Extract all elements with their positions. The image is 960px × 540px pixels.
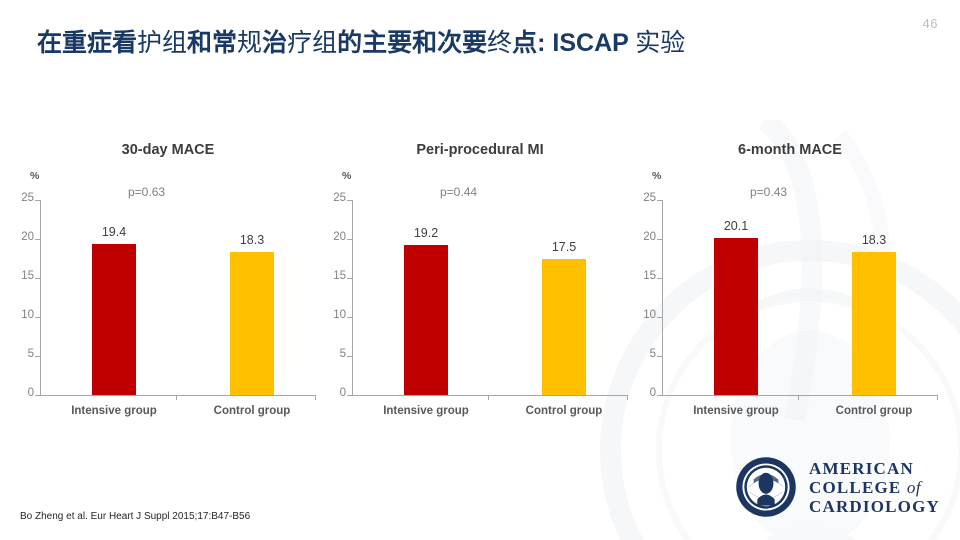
y-tick — [347, 395, 352, 396]
bar-intensive — [714, 238, 758, 395]
y-tick-label: 15 — [643, 270, 656, 282]
x-axis-midtick — [798, 395, 799, 400]
acc-logo-line-1: AMERICAN — [809, 459, 940, 478]
x-axis-midtick — [176, 395, 177, 400]
title-segment: 的主要和次要 — [337, 29, 487, 57]
y-tick-label: 0 — [650, 387, 656, 399]
plot-area: 25 20 15 10 5 0 19.4 18.3 Intensive grou… — [40, 200, 316, 395]
bar-value-label: 20.1 — [701, 219, 771, 233]
x-axis-midtick — [488, 395, 489, 400]
y-tick — [657, 317, 662, 318]
y-axis-labels: 25 20 15 10 5 0 — [310, 200, 346, 395]
category-label-intensive: Intensive group — [676, 405, 796, 417]
acc-logo-of: of — [907, 478, 921, 497]
y-tick — [657, 278, 662, 279]
bar-value-label: 17.5 — [529, 240, 599, 254]
x-axis-line — [662, 395, 938, 396]
category-label-control: Control group — [504, 405, 624, 417]
y-tick-label: 5 — [28, 348, 34, 360]
chart-title: 30-day MACE — [8, 142, 328, 158]
y-tick-label: 15 — [333, 270, 346, 282]
bar-intensive — [404, 245, 448, 395]
citation-text: Bo Zheng et al. Eur Heart J Suppl 2015;1… — [20, 511, 250, 522]
acc-seal-icon — [735, 456, 797, 518]
x-axis-endcap — [937, 395, 938, 400]
bar-control — [852, 252, 896, 395]
acc-logo: AMERICAN COLLEGE of CARDIOLOGY — [735, 456, 940, 518]
title-segment: 在重症看 — [37, 29, 137, 57]
chart-title: 6-month MACE — [630, 142, 950, 158]
plot-area: 25 20 15 10 5 0 19.2 17.5 Intensive grou… — [352, 200, 628, 395]
title-segment: 治 — [262, 29, 287, 57]
y-tick-label: 0 — [28, 387, 34, 399]
y-tick — [35, 200, 40, 201]
y-tick — [35, 356, 40, 357]
acc-logo-line-2: COLLEGE of — [809, 478, 940, 497]
x-axis-line — [352, 395, 628, 396]
y-tick-label: 10 — [643, 309, 656, 321]
chart-6-month-mace: 6-month MACE % p=0.43 25 20 15 10 — [630, 130, 950, 430]
bar-value-label: 19.2 — [391, 226, 461, 240]
slide: 46 在重症看护组和常规治疗组的主要和次要终点: ISCAP 实验 30-day… — [0, 0, 960, 540]
y-tick-label: 20 — [21, 231, 34, 243]
chart-peri-procedural-mi: Peri-procedural MI % p=0.44 25 20 15 10 — [320, 130, 640, 430]
category-label-control: Control group — [192, 405, 312, 417]
y-axis-line — [662, 200, 663, 395]
plot-area: 25 20 15 10 5 0 20.1 18.3 Intensive grou… — [662, 200, 938, 395]
y-tick — [347, 200, 352, 201]
title-segment: 和常 — [187, 29, 237, 57]
y-tick — [657, 200, 662, 201]
title-segment: 终 — [487, 29, 512, 57]
category-label-intensive: Intensive group — [54, 405, 174, 417]
y-axis-line — [40, 200, 41, 395]
p-value-annotation: p=0.43 — [750, 185, 787, 199]
y-tick-label: 25 — [21, 192, 34, 204]
y-axis-unit-label: % — [30, 170, 39, 182]
title-segment: 实验 — [635, 29, 685, 57]
y-tick-label: 10 — [333, 309, 346, 321]
y-tick-label: 5 — [340, 348, 346, 360]
chart-title: Peri-procedural MI — [320, 142, 640, 158]
y-tick-label: 10 — [21, 309, 34, 321]
y-tick-label: 20 — [643, 231, 656, 243]
bar-intensive — [92, 244, 136, 395]
y-tick-label: 25 — [643, 192, 656, 204]
y-tick — [347, 278, 352, 279]
y-tick — [347, 356, 352, 357]
category-label-control: Control group — [814, 405, 934, 417]
y-axis-unit-label: % — [342, 170, 351, 182]
y-axis-labels: 25 20 15 10 5 0 — [620, 200, 656, 395]
page-title: 在重症看护组和常规治疗组的主要和次要终点: ISCAP 实验 — [37, 27, 685, 59]
bar-control — [230, 252, 274, 395]
y-axis-line — [352, 200, 353, 395]
y-tick — [657, 395, 662, 396]
acc-logo-college: COLLEGE — [809, 478, 901, 497]
slide-number: 46 — [923, 16, 938, 31]
acc-logo-wordmark: AMERICAN COLLEGE of CARDIOLOGY — [809, 459, 940, 516]
x-axis-endcap — [627, 395, 628, 400]
title-segment: 规 — [237, 29, 262, 57]
bar-control — [542, 259, 586, 396]
category-label-intensive: Intensive group — [366, 405, 486, 417]
bar-value-label: 18.3 — [839, 233, 909, 247]
y-tick-label: 15 — [21, 270, 34, 282]
y-tick — [347, 317, 352, 318]
y-tick — [35, 239, 40, 240]
y-tick-label: 20 — [333, 231, 346, 243]
y-tick-label: 0 — [340, 387, 346, 399]
y-tick-label: 25 — [333, 192, 346, 204]
p-value-annotation: p=0.44 — [440, 185, 477, 199]
title-segment: 护组 — [137, 29, 187, 57]
bar-value-label: 19.4 — [79, 225, 149, 239]
y-tick-label: 5 — [650, 348, 656, 360]
title-segment: 疗组 — [287, 29, 337, 57]
bar-value-label: 18.3 — [217, 233, 287, 247]
title-segment: 点: ISCAP — [512, 29, 635, 57]
y-axis-unit-label: % — [652, 170, 661, 182]
x-axis-endcap — [315, 395, 316, 400]
y-tick — [347, 239, 352, 240]
y-tick — [35, 278, 40, 279]
x-axis-line — [40, 395, 316, 396]
y-tick — [657, 239, 662, 240]
p-value-annotation: p=0.63 — [128, 185, 165, 199]
y-tick — [657, 356, 662, 357]
y-tick — [35, 395, 40, 396]
acc-logo-line-3: CARDIOLOGY — [809, 497, 940, 516]
chart-30-day-mace: 30-day MACE % p=0.63 25 20 15 10 — [8, 130, 328, 430]
y-axis-labels: 25 20 15 10 5 0 — [0, 200, 34, 395]
y-tick — [35, 317, 40, 318]
charts-container: 30-day MACE % p=0.63 25 20 15 10 — [0, 130, 960, 430]
